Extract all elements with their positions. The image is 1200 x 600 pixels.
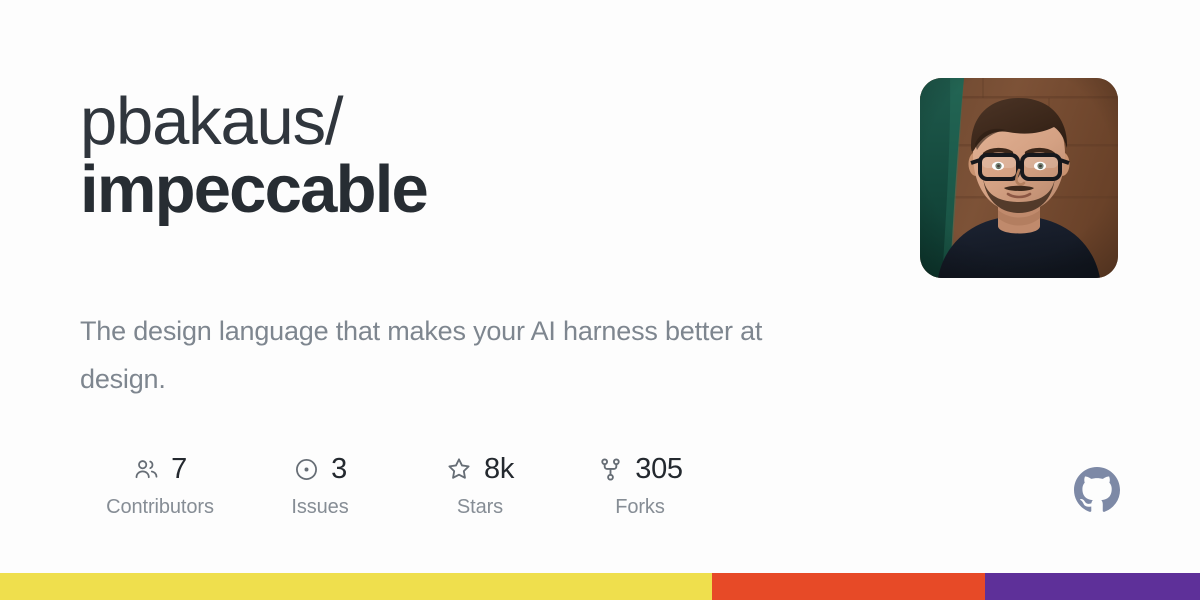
stat-issues-top: 3 [293,452,347,486]
stat-forks-top: 305 [597,452,683,486]
stat-contributors-label: Contributors [106,497,214,517]
color-bar [0,573,1200,600]
stat-forks[interactable]: 305 Forks [560,452,720,517]
color-bar-segment-yellow [0,573,712,600]
github-mark-icon[interactable] [1074,467,1120,513]
color-bar-segment-purple [985,573,1200,600]
stat-issues-label: Issues [291,497,348,517]
issue-opened-icon [293,456,320,483]
stat-stars-label: Stars [457,497,503,517]
repo-forked-icon [597,456,624,483]
repository-name[interactable]: impeccable [80,156,840,224]
stat-contributors-value: 7 [171,455,187,484]
stat-contributors-top: 7 [133,452,187,486]
stat-stars-top: 8k [446,452,514,486]
stat-forks-label: Forks [615,497,665,517]
stat-issues-value: 3 [331,455,347,484]
page-title: pbakaus/ impeccable [80,88,840,225]
stat-contributors[interactable]: 7 Contributors [80,452,240,517]
stat-stars[interactable]: 8k Stars [400,452,560,517]
people-icon [133,456,160,483]
star-icon [446,456,473,483]
repository-card: pbakaus/ impeccable The design language … [0,0,1200,600]
stat-forks-value: 305 [635,455,683,484]
repository-owner[interactable]: pbakaus/ [80,88,840,156]
repository-description: The design language that makes your AI h… [80,307,840,403]
repository-stats: 7 Contributors 3 Issues [80,452,720,517]
color-bar-segment-orange [712,573,985,600]
repository-title-block: pbakaus/ impeccable [80,88,840,225]
stat-stars-value: 8k [484,455,514,484]
stat-issues[interactable]: 3 Issues [240,452,400,517]
avatar[interactable] [920,78,1118,278]
